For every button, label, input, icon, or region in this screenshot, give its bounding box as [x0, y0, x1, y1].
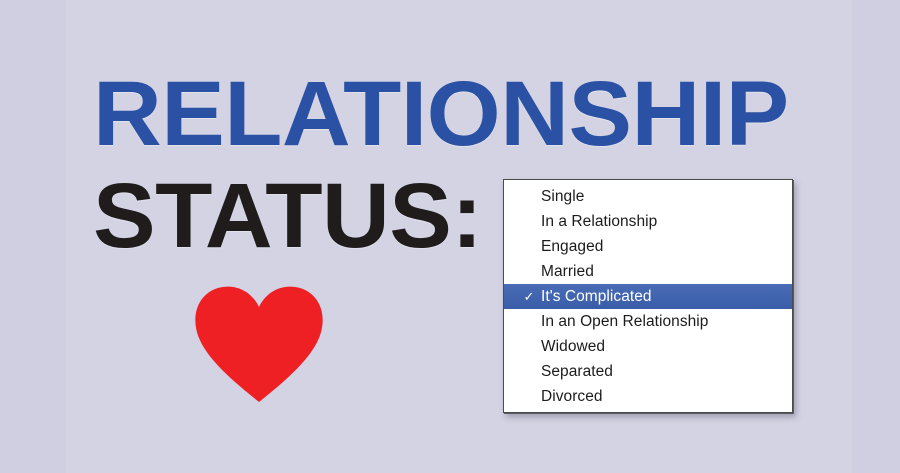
menu-item-label: In a Relationship — [541, 213, 657, 230]
menu-item[interactable]: ✓Married — [504, 259, 792, 284]
menu-item[interactable]: ✓In an Open Relationship — [504, 309, 792, 334]
page-title-line-1: RELATIONSHIP — [93, 68, 789, 160]
meme-canvas: RELATIONSHIP STATUS: ✓Single✓In a Relati… — [0, 0, 900, 473]
relationship-status-dropdown[interactable]: ✓Single✓In a Relationship✓Engaged✓Marrie… — [503, 179, 793, 413]
menu-item-label: Separated — [541, 363, 613, 380]
menu-item[interactable]: ✓Divorced — [504, 384, 792, 409]
menu-item[interactable]: ✓Single — [504, 184, 792, 209]
heart-icon — [194, 286, 324, 402]
menu-item[interactable]: ✓In a Relationship — [504, 209, 792, 234]
menu-item-label: Single — [541, 188, 584, 205]
menu-item-label: Divorced — [541, 388, 603, 405]
menu-item-label: In an Open Relationship — [541, 313, 708, 330]
menu-item-label: Widowed — [541, 338, 605, 355]
menu-item-label: Engaged — [541, 238, 603, 255]
menu-item-label: It's Complicated — [541, 288, 652, 305]
page-title-line-2: STATUS: — [93, 170, 482, 262]
check-icon: ✓ — [522, 284, 536, 309]
menu-item[interactable]: ✓It's Complicated — [504, 284, 792, 309]
menu-item[interactable]: ✓Engaged — [504, 234, 792, 259]
menu-item[interactable]: ✓Widowed — [504, 334, 792, 359]
menu-item[interactable]: ✓Separated — [504, 359, 792, 384]
menu-item-label: Married — [541, 263, 594, 280]
